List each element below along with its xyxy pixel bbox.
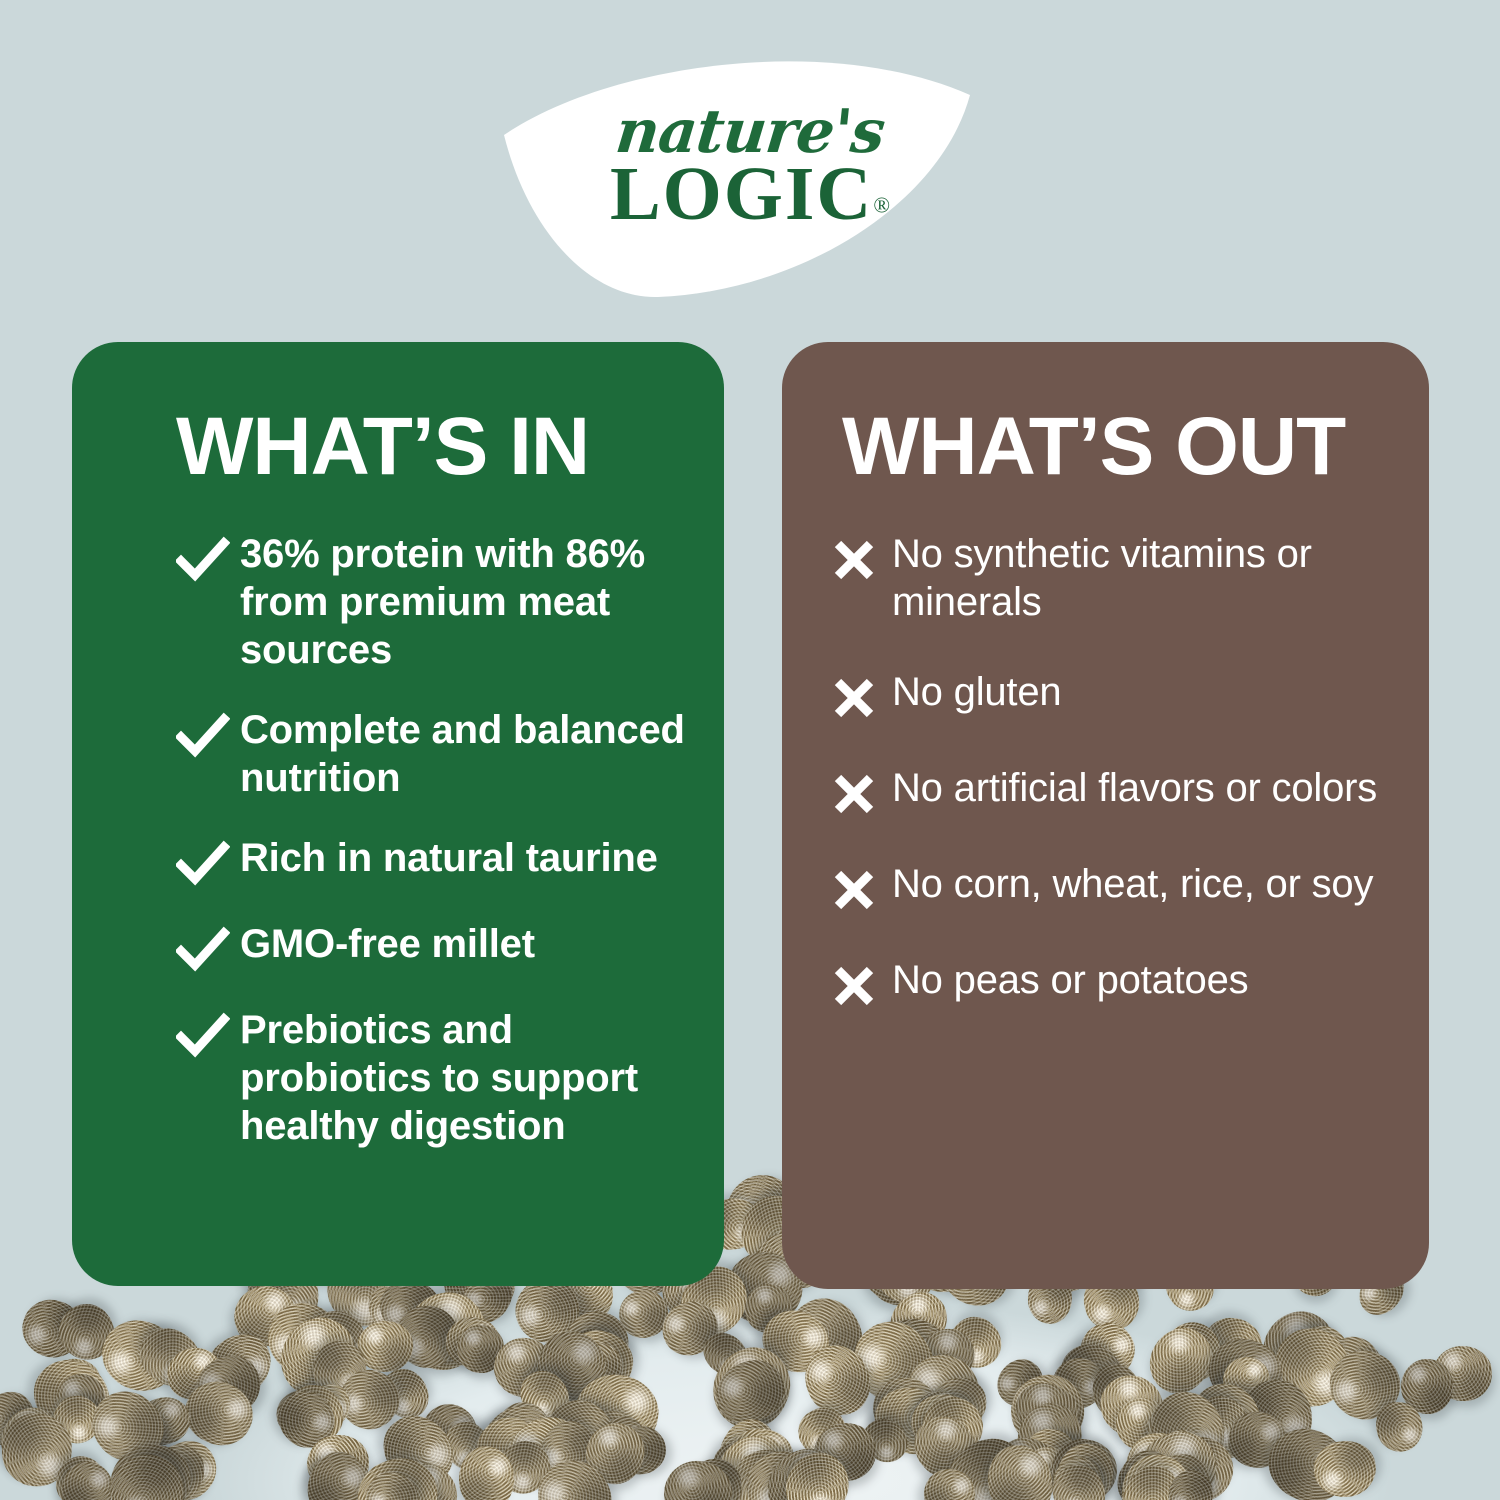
list-item: No synthetic vitamins or minerals (828, 530, 1403, 626)
whats-in-list: 36% protein with 86% from premium meat s… (176, 530, 694, 1150)
list-item-label: Prebiotics and probiotics to support hea… (240, 1006, 694, 1150)
x-icon (828, 536, 882, 584)
list-item-label: No corn, wheat, rice, or soy (892, 860, 1373, 908)
check-icon (176, 712, 230, 760)
whats-in-panel: WHAT’S IN 36% protein with 86% from prem… (72, 342, 724, 1286)
list-item-label: No peas or potatoes (892, 956, 1248, 1004)
list-item: 36% protein with 86% from premium meat s… (176, 530, 694, 674)
list-item-label: GMO-free millet (240, 920, 535, 968)
list-item: No peas or potatoes (828, 956, 1403, 1010)
check-icon (176, 926, 230, 974)
x-icon (828, 770, 882, 818)
product-infographic: nature's LOGIC® WHAT’S IN 36% protein wi… (0, 0, 1500, 1500)
whats-in-title: WHAT’S IN (176, 404, 694, 490)
list-item-label: No synthetic vitamins or minerals (892, 530, 1403, 626)
list-item: No gluten (828, 668, 1403, 722)
list-item: No artificial flavors or colors (828, 764, 1403, 818)
list-item: GMO-free millet (176, 920, 694, 974)
x-icon (828, 962, 882, 1010)
list-item-label: Complete and balanced nutrition (240, 706, 694, 802)
check-icon (176, 1012, 230, 1060)
x-icon (828, 866, 882, 914)
list-item-label: Rich in natural taurine (240, 834, 658, 882)
list-item: No corn, wheat, rice, or soy (828, 860, 1403, 914)
list-item-label: 36% protein with 86% from premium meat s… (240, 530, 694, 674)
list-item: Prebiotics and probiotics to support hea… (176, 1006, 694, 1150)
whats-out-panel: WHAT’S OUT No synthetic vitamins or mine… (782, 342, 1429, 1289)
brand-logo: nature's LOGIC® (500, 55, 1000, 305)
whats-out-title: WHAT’S OUT (842, 404, 1403, 490)
list-item-label: No artificial flavors or colors (892, 764, 1377, 812)
check-icon (176, 536, 230, 584)
list-item: Complete and balanced nutrition (176, 706, 694, 802)
x-icon (828, 674, 882, 722)
list-item-label: No gluten (892, 668, 1061, 716)
list-item: Rich in natural taurine (176, 834, 694, 888)
check-icon (176, 840, 230, 888)
whats-out-list: No synthetic vitamins or mineralsNo glut… (828, 530, 1403, 1010)
leaf-shape-icon (500, 55, 1000, 305)
